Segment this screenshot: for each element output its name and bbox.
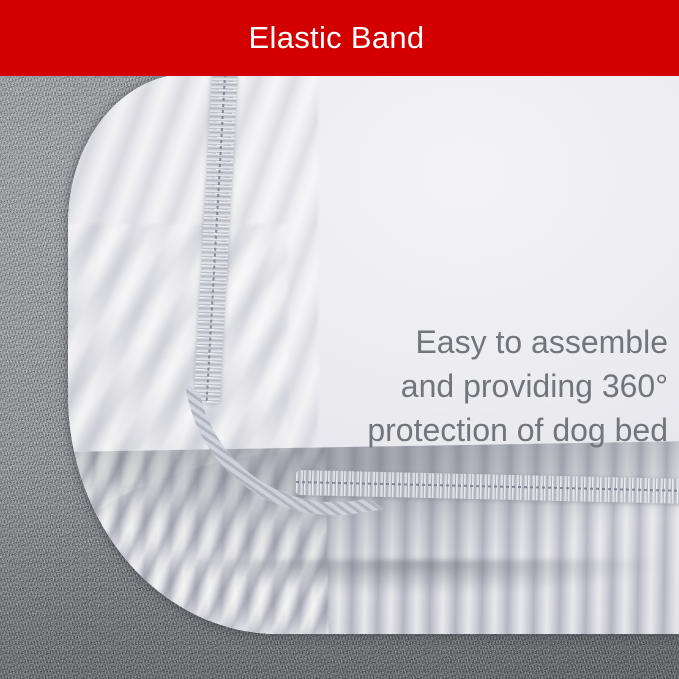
banner-title: Elastic Band [249,20,425,56]
copy-line-3: protection of dog bed [238,408,668,452]
marketing-copy: Easy to assemble and providing 360° prot… [238,320,668,452]
product-photo: Easy to assemble and providing 360° prot… [0,0,679,679]
header-banner: Elastic Band [0,0,679,76]
copy-line-1: Easy to assemble [238,320,668,364]
copy-line-2: and providing 360° [238,364,668,408]
skirt-contact-shadow [120,560,679,640]
